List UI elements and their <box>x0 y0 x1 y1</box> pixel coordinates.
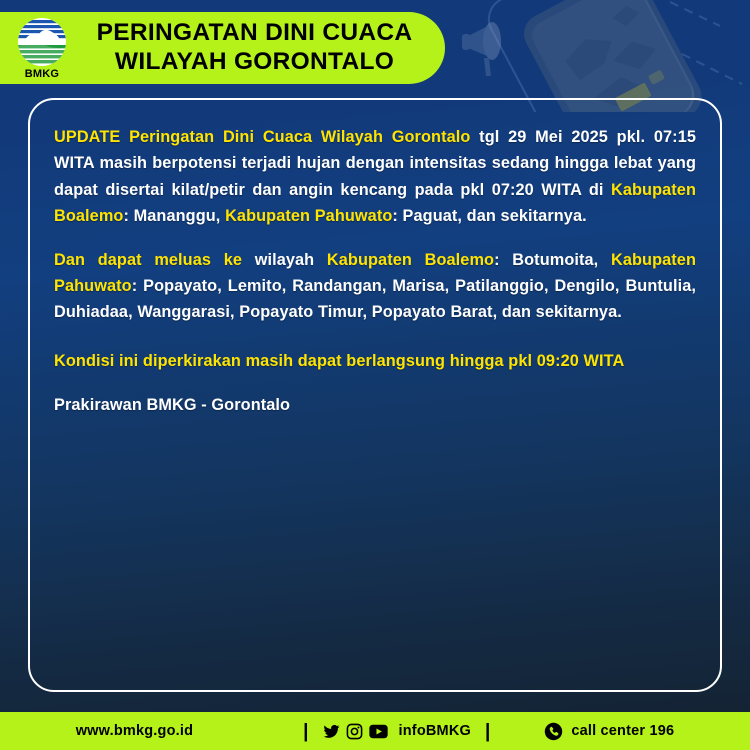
website-link[interactable]: www.bmkg.go.id <box>76 723 193 739</box>
infographic-page: BMKG PERINGATAN DINI CUACA WILAYAH GORON… <box>0 0 750 750</box>
social-handle[interactable]: infoBMKG <box>399 723 471 739</box>
social-links: infoBMKG <box>323 723 471 740</box>
footer-divider-left: | <box>303 722 308 741</box>
bmkg-logo-icon <box>17 17 67 67</box>
phone-icon <box>544 722 563 741</box>
p2-regency-boalemo: Kabupaten Boalemo <box>327 251 494 269</box>
page-title: PERINGATAN DINI CUACA WILAYAH GORONTALO <box>78 19 445 77</box>
background-decoration <box>420 0 750 112</box>
p2-headline: Dan dapat meluas ke <box>54 251 242 269</box>
p1-headline: UPDATE Peringatan Dini Cuaca Wilayah Gor… <box>54 128 470 146</box>
p2-connector: wilayah <box>242 251 327 269</box>
bmkg-logo: BMKG <box>6 17 78 80</box>
header-banner: BMKG PERINGATAN DINI CUACA WILAYAH GORON… <box>0 12 445 84</box>
footer-divider-right: | <box>485 722 490 741</box>
call-center[interactable]: call center 196 <box>544 722 674 741</box>
warning-card: UPDATE Peringatan Dini Cuaca Wilayah Gor… <box>28 98 722 692</box>
youtube-icon[interactable] <box>369 723 388 740</box>
bmkg-logo-text: BMKG <box>25 68 59 80</box>
signature: Prakirawan BMKG - Gorontalo <box>54 392 696 418</box>
call-center-label[interactable]: call center 196 <box>571 723 674 739</box>
duration-note: Kondisi ini diperkirakan masih dapat ber… <box>54 348 696 374</box>
title-line-1: PERINGATAN DINI CUACA <box>78 19 431 48</box>
p1-boalemo-areas: : Mananggu, <box>123 207 225 225</box>
twitter-icon[interactable] <box>323 723 340 740</box>
p2-pahuwato-areas: : Popayato, Lemito, Randangan, Marisa, P… <box>54 277 696 321</box>
instagram-icon[interactable] <box>346 723 363 740</box>
p2-boalemo-areas: : Botumoita, <box>494 251 611 269</box>
p1-pahuwato-areas: : Paguat, dan sekitarnya. <box>392 207 586 225</box>
title-line-2: WILAYAH GORONTALO <box>78 48 431 77</box>
warning-paragraph-2: Dan dapat meluas ke wilayah Kabupaten Bo… <box>54 247 696 326</box>
p1-regency-pahuwato: Kabupaten Pahuwato <box>225 207 392 225</box>
footer-bar: www.bmkg.go.id | infoBMKG | <box>0 712 750 750</box>
warning-paragraph-1: UPDATE Peringatan Dini Cuaca Wilayah Gor… <box>54 124 696 230</box>
